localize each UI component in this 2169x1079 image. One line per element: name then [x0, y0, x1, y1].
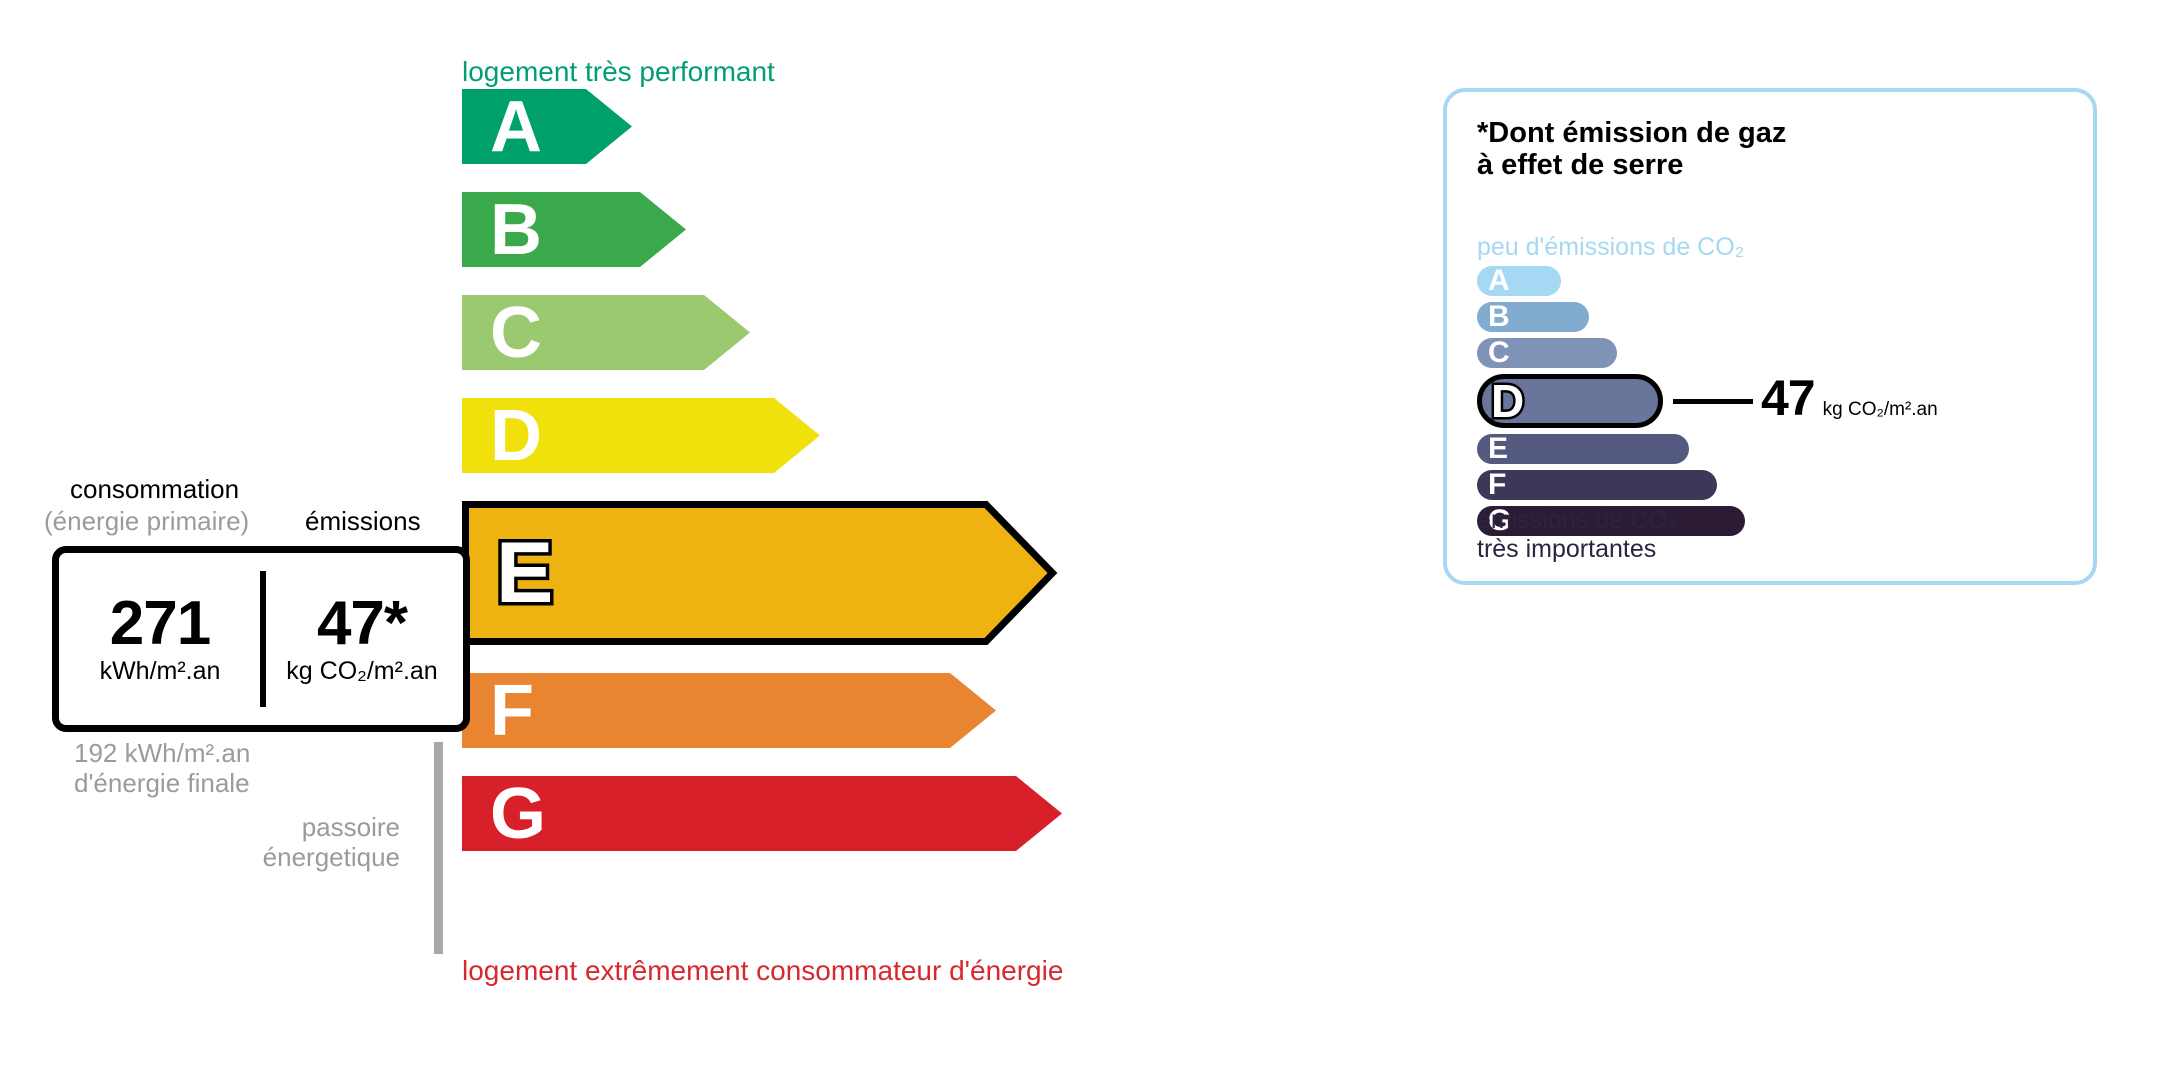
ges-class-letter-d: D	[1491, 374, 1524, 428]
energy-arrow-f	[462, 673, 996, 748]
energy-class-letter-c: C	[490, 295, 542, 370]
emission-value-cell: 47* kg CO₂/m².an	[261, 553, 463, 725]
energy-class-letter-a: A	[490, 89, 542, 164]
passoire-rule-divider	[434, 742, 443, 954]
energy-class-row-e: E	[462, 501, 1056, 645]
consumption-emission-value-box: 271 kWh/m².an 47* kg CO₂/m².an	[52, 546, 470, 732]
energy-class-row-d: D	[462, 398, 820, 473]
ges-bar-f	[1477, 470, 1717, 500]
energy-class-row-c: C	[462, 295, 750, 370]
primary-energy-label: (énergie primaire)	[44, 506, 249, 537]
ges-class-row-c: C	[1477, 338, 1617, 368]
passoire-energetique-label: passoire énergetique	[185, 812, 400, 873]
ges-top-caption: peu d'émissions de CO₂	[1477, 233, 1744, 262]
energy-class-row-g: G	[462, 776, 1062, 851]
consumption-label: consommation	[70, 474, 239, 505]
energy-class-letter-g: G	[490, 776, 546, 851]
ges-value-number: 47	[1761, 369, 1815, 427]
ges-bar-e	[1477, 434, 1689, 464]
ges-class-row-a: A	[1477, 266, 1561, 296]
ges-class-letter-b: B	[1488, 302, 1510, 332]
energy-class-row-f: F	[462, 673, 996, 748]
emissions-label: émissions	[305, 506, 421, 537]
consumption-value: 271	[110, 592, 210, 655]
consumption-unit: kWh/m².an	[100, 657, 221, 686]
ges-class-row-e: E	[1477, 434, 1689, 464]
energy-class-row-b: B	[462, 192, 686, 267]
ges-leader-line	[1673, 399, 1753, 404]
energy-class-letter-d: D	[490, 398, 542, 473]
energy-bottom-caption: logement extrêmement consommateur d'éner…	[462, 955, 1063, 987]
ges-class-letter-a: A	[1488, 266, 1510, 296]
consumption-value-cell: 271 kWh/m².an	[59, 553, 261, 725]
ges-value-readout: 47kg CO₂/m².an	[1761, 369, 1938, 427]
energy-class-letter-e: E	[496, 501, 553, 645]
ges-class-row-d: D	[1477, 374, 1663, 428]
ges-class-row-b: B	[1477, 302, 1589, 332]
energy-class-row-a: A	[462, 89, 632, 164]
ges-class-letter-e: E	[1488, 434, 1508, 464]
emission-unit: kg CO₂/m².an	[286, 657, 437, 686]
energy-class-bars: ABCDEFG	[0, 0, 1400, 1079]
energy-arrow-a	[462, 89, 632, 164]
ges-class-letter-f: F	[1488, 470, 1506, 500]
energy-class-letter-b: B	[490, 192, 542, 267]
ges-class-row-f: F	[1477, 470, 1717, 500]
ges-panel-title: *Dont émission de gaz à effet de serre	[1477, 117, 1786, 182]
energy-arrow-g	[462, 776, 1062, 851]
emission-value: 47*	[317, 592, 407, 655]
ges-value-unit: kg CO₂/m².an	[1823, 399, 1938, 421]
greenhouse-gas-panel: *Dont émission de gaz à effet de serre p…	[1443, 88, 2097, 585]
energy-performance-panel: logement très performant ABCDEFG logemen…	[0, 0, 1400, 1079]
ges-class-bars: ABCDEFG47kg CO₂/m².an	[1477, 266, 2077, 506]
energy-class-letter-f: F	[490, 673, 534, 748]
ges-class-letter-c: C	[1488, 338, 1510, 368]
final-energy-note: 192 kWh/m².an d'énergie finale	[74, 738, 250, 799]
ges-bottom-caption: émissions de CO₂ très importantes	[1477, 506, 1677, 564]
